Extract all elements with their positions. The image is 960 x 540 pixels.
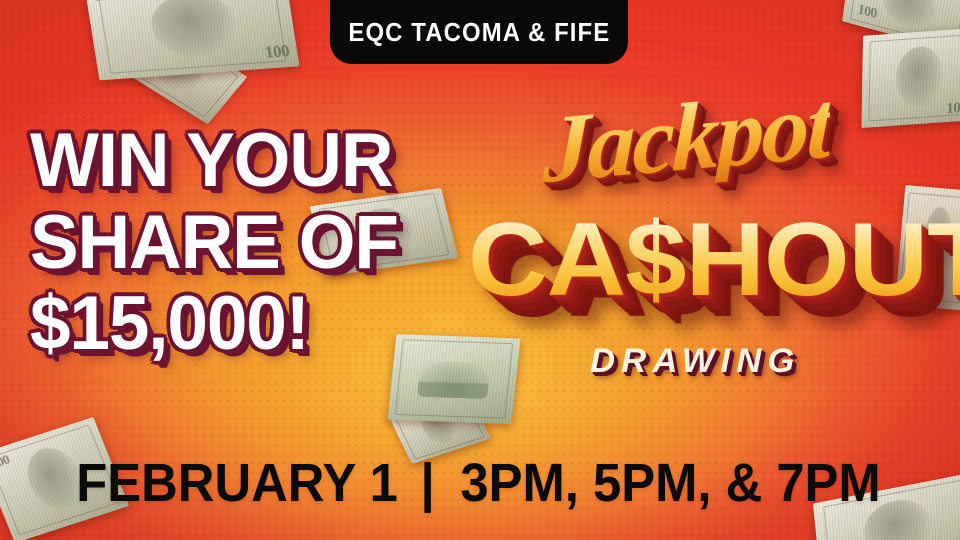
logo-wordmark-cashout: CA$HOUT <box>468 208 960 312</box>
promotional-poster: 100 100 100 100 100 EQC TACOMA & <box>0 0 960 540</box>
bill-denomination: 100 <box>857 2 878 23</box>
jackpot-cashout-logo: Jackpot CA$HOUT DRAWING <box>466 96 946 396</box>
bill-denomination: 100 <box>946 100 960 119</box>
event-dateline: FEBRUARY 1|3PM, 5PM, & 7PM <box>0 456 960 510</box>
event-times: 3PM, 5PM, & 7PM <box>460 456 880 510</box>
logo-subtitle-drawing: DRAWING <box>590 342 800 381</box>
dateline-separator: | <box>409 456 446 510</box>
venue-banner-label: EQC TACOMA & FIFE <box>348 17 610 48</box>
event-date: FEBRUARY 1 <box>76 456 398 510</box>
bill-denomination: 100 <box>93 0 112 5</box>
venue-banner: EQC TACOMA & FIFE <box>330 0 628 64</box>
headline-block: WIN YOUR SHARE OF $15,000! <box>30 124 500 361</box>
headline-line-1: WIN YOUR <box>30 124 481 198</box>
headline-line-3: $15,000! <box>30 287 481 361</box>
money-bill-top-left: 100 100 <box>84 0 299 80</box>
headline-line-2: SHARE OF <box>30 206 481 280</box>
hundred-dollar-bill: 100 100 <box>84 0 299 80</box>
bill-denomination: 100 <box>264 41 291 62</box>
logo-script-jackpot: Jackpot <box>542 76 831 198</box>
